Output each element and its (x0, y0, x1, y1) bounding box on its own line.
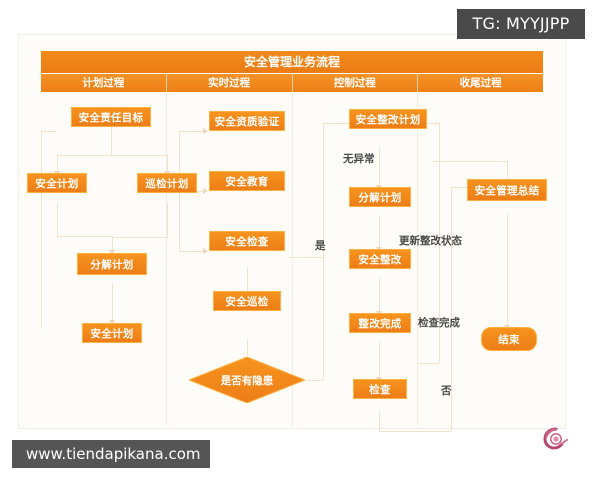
swimlane-header-closing: 收尾过程 (418, 74, 543, 92)
node-safety-plan-1[interactable]: 安全计划 (27, 173, 87, 193)
node-label: 安全计划 (90, 326, 133, 341)
node-safety-qualification-verification[interactable]: 安全资质验证 (209, 111, 285, 131)
connector-no-bottom (379, 431, 451, 432)
connector-n12-down (379, 215, 380, 249)
node-safety-education[interactable]: 安全教育 (209, 171, 285, 191)
node-label: 安全检查 (225, 234, 268, 249)
connector-n2-to-bus (57, 236, 112, 237)
lane-separator-1 (166, 92, 167, 426)
connector-n9-down (247, 339, 248, 359)
circular-seal-logo-icon (543, 427, 569, 453)
node-label: 安全整改计划 (356, 112, 421, 127)
connector-n16-top-stub (507, 161, 508, 181)
connector-left-rail (41, 131, 42, 329)
node-rectification-complete[interactable]: 整改完成 (349, 313, 411, 333)
node-decompose-plan-1[interactable]: 分解计划 (77, 253, 147, 275)
arrowhead-to-n6 (203, 128, 208, 134)
tg-handle-watermark: TG: MYYJJPP (457, 9, 585, 39)
edge-label-no-abnormality: 无异常 (343, 151, 375, 166)
node-label: 分解计划 (90, 257, 133, 272)
connector-n15-down (379, 411, 380, 431)
connector-n15-right (417, 363, 439, 364)
swimlane-header-row: 计划过程 实时过程 控制过程 收尾过程 (41, 74, 543, 92)
node-safety-patrol[interactable]: 安全巡检 (213, 291, 281, 311)
node-safety-rectification-plan[interactable]: 安全整改计划 (349, 109, 427, 129)
connector-n1-down (111, 127, 112, 155)
node-label: 安全教育 (225, 174, 268, 189)
swimlane-header-realtime: 实时过程 (167, 74, 293, 92)
node-label: 分解计划 (358, 190, 401, 205)
node-end[interactable]: 结束 (481, 327, 537, 351)
node-inspection-plan[interactable]: 巡检计划 (137, 173, 197, 193)
connector-n16-top-rail (433, 161, 507, 162)
node-label: 安全整改 (358, 252, 401, 267)
connector-n8-side (289, 257, 323, 258)
node-safety-plan-2[interactable]: 安全计划 (82, 323, 142, 343)
node-safety-management-summary[interactable]: 安全管理总结 (467, 179, 547, 201)
connector-n3-to-bus (112, 237, 168, 238)
connector-left-rail-top (41, 131, 57, 132)
connector-feed-n6 (179, 131, 205, 132)
arrowhead-to-n8 (203, 248, 208, 254)
swimlane-header-planning: 计划过程 (41, 74, 167, 92)
node-label: 安全巡检 (225, 294, 268, 309)
node-safety-responsibility-target[interactable]: 安全责任目标 (71, 107, 151, 127)
node-label: 检查 (369, 382, 391, 397)
swimlane-header-control: 控制过程 (293, 74, 419, 92)
node-label: 安全责任目标 (79, 110, 144, 125)
connector-n14-down (379, 341, 380, 379)
connector-n16-down (507, 213, 508, 327)
site-url-watermark: www.tiendapikana.com (12, 440, 210, 468)
node-decision-has-hazard[interactable]: 是否有隐患 (189, 357, 305, 403)
connector-n3-down (167, 203, 168, 237)
connector-n1-split (57, 155, 168, 156)
edge-label-no: 否 (441, 383, 452, 398)
flowchart-canvas: 安全管理业务流程 计划过程 实时过程 控制过程 收尾过程 (18, 34, 566, 429)
node-safety-rectification[interactable]: 安全整改 (349, 249, 411, 269)
lane-separator-3 (417, 92, 418, 426)
connector-n10-yes-out (305, 380, 323, 381)
node-label: 安全管理总结 (475, 183, 540, 198)
edge-label-yes: 是 (315, 238, 326, 253)
flowchart-title: 安全管理业务流程 (41, 51, 543, 73)
edge-label-check-complete: 检查完成 (418, 315, 460, 330)
connector-n4-down (112, 283, 113, 322)
connector-n2-down (57, 203, 58, 236)
connector-feed-n8 (179, 251, 205, 252)
node-safety-inspection-check[interactable]: 安全检查 (209, 231, 285, 251)
node-check[interactable]: 检查 (353, 379, 407, 399)
node-label: 结束 (498, 332, 520, 347)
node-label: 安全资质验证 (215, 114, 280, 129)
node-label: 巡检计划 (145, 176, 188, 191)
node-label: 安全计划 (35, 176, 78, 191)
connector-n13-down (379, 277, 380, 313)
connector-n11-down (379, 147, 380, 187)
arrowhead-to-n7 (203, 188, 208, 194)
node-decompose-plan-2[interactable]: 分解计划 (349, 187, 411, 207)
edge-label-update-rectification-status: 更新整改状态 (399, 233, 462, 248)
node-label: 整改完成 (358, 316, 401, 331)
